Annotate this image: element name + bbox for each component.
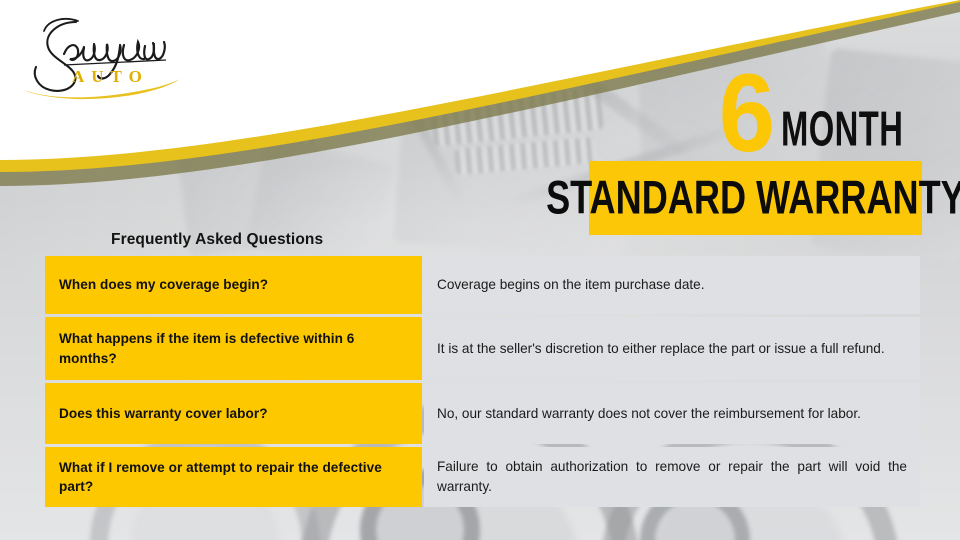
faq-question-text: What if I remove or attempt to repair th… [59,458,406,497]
faq-answer-cell: Failure to obtain authorization to remov… [424,447,920,507]
warranty-banner-title: STANDARD WARRANTY [546,174,960,221]
faq-heading: Frequently Asked Questions [111,231,323,249]
warranty-duration: 6 MONTH [700,52,930,162]
faq-question-cell: When does my coverage begin? [45,256,422,314]
faq-question-cell: What if I remove or attempt to repair th… [45,447,422,507]
standard-warranty-banner: STANDARD WARRANTY [589,161,922,235]
table-row: Does this warranty cover labor? No, our … [45,383,920,444]
faq-answer-text: Failure to obtain authorization to remov… [437,457,907,496]
faq-answer-cell: No, our standard warranty does not cover… [424,383,920,444]
faq-answer-text: It is at the seller's discretion to eith… [437,339,907,359]
duration-unit: MONTH [781,105,903,154]
faq-question-text: What happens if the item is defective wi… [59,329,406,368]
faq-answer-text: Coverage begins on the item purchase dat… [437,275,907,295]
faq-answer-cell: Coverage begins on the item purchase dat… [424,256,920,314]
faq-answer-cell: It is at the seller's discretion to eith… [424,317,920,380]
logo-auto-text: AUTO [72,67,149,86]
duration-number: 6 [718,67,772,162]
table-row: When does my coverage begin? Coverage be… [45,256,920,314]
faq-table: When does my coverage begin? Coverage be… [45,256,920,507]
table-row: What if I remove or attempt to repair th… [45,447,920,507]
faq-question-text: When does my coverage begin? [59,275,268,294]
faq-answer-text: No, our standard warranty does not cover… [437,404,907,424]
faq-question-cell: What happens if the item is defective wi… [45,317,422,380]
warranty-slide: AUTO 6 MONTH STANDARD WARRANTY Frequentl… [0,0,960,540]
table-row: What happens if the item is defective wi… [45,317,920,380]
seymour-auto-logo: AUTO [14,14,204,106]
faq-question-cell: Does this warranty cover labor? [45,383,422,444]
faq-question-text: Does this warranty cover labor? [59,404,268,423]
